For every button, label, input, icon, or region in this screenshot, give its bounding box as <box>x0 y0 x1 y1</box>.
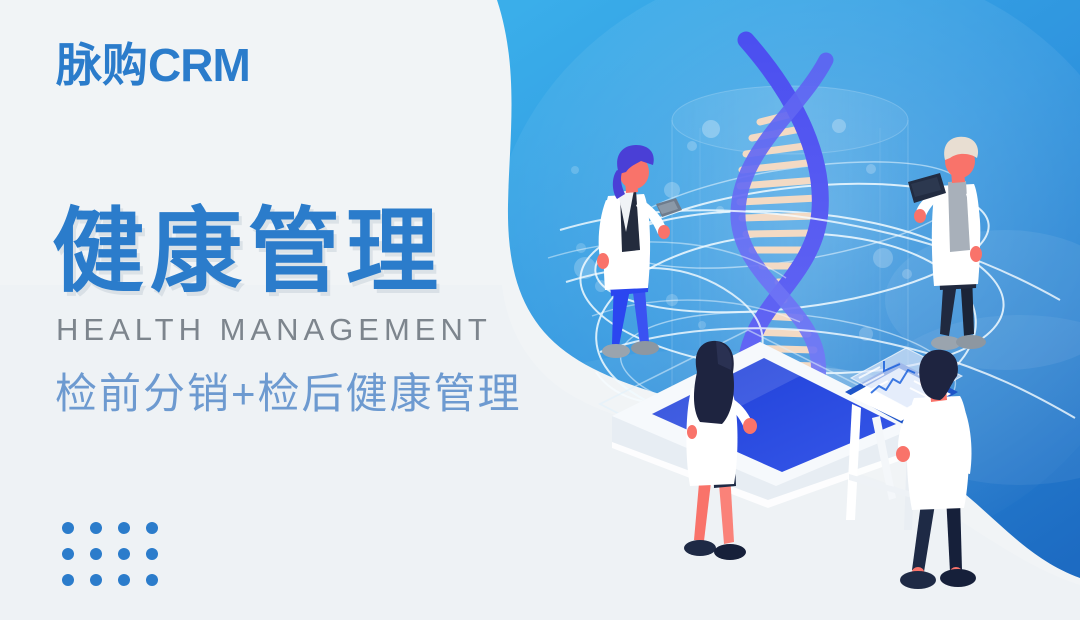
dot <box>146 522 158 534</box>
subtitle-english: HEALTH MANAGEMENT <box>56 314 492 345</box>
dot <box>62 574 74 586</box>
dot <box>146 574 158 586</box>
dot <box>62 522 74 534</box>
dot <box>118 522 130 534</box>
dot <box>90 548 102 560</box>
health-management-banner: 脉购CRM 健康管理 HEALTH MANAGEMENT 检前分销+检后健康管理 <box>0 0 1080 620</box>
dot <box>90 522 102 534</box>
figure-male-researcher-chart <box>0 0 1080 620</box>
dot-grid-decoration <box>62 522 158 586</box>
dot <box>118 574 130 586</box>
brand-logo: 脉购CRM <box>56 42 250 88</box>
dot <box>90 574 102 586</box>
dot <box>62 548 74 560</box>
subtitle-chinese: 检前分销+检后健康管理 <box>55 371 522 417</box>
brand-logo-en: CRM <box>148 39 250 91</box>
brand-logo-cn: 脉购 <box>56 39 148 91</box>
dot <box>118 548 130 560</box>
page-title: 健康管理 <box>52 203 444 302</box>
dot <box>146 548 158 560</box>
